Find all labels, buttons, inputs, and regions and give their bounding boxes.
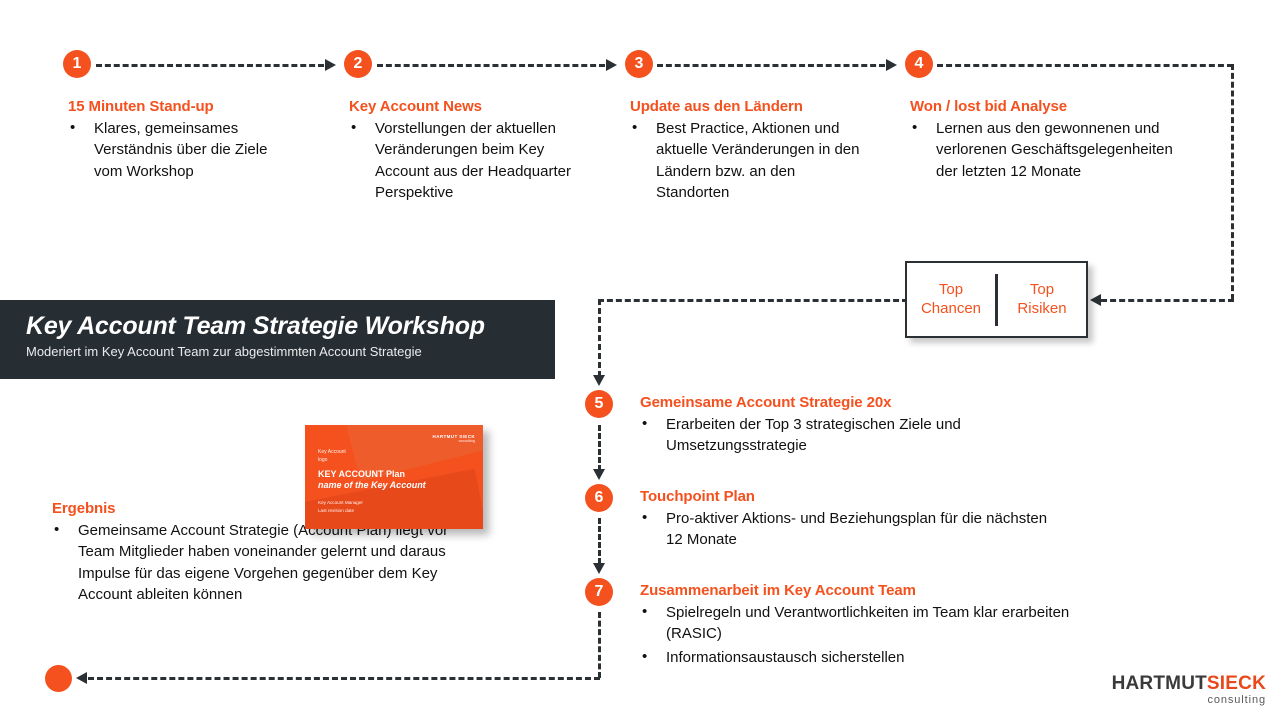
arrow-into-step-5 [593, 375, 605, 386]
step-block-1: 15 Minuten Stand-up Klares, gemeinsames … [68, 98, 298, 184]
step-bullets-3: Best Practice, Aktionen und aktuelle Ver… [630, 118, 870, 203]
bullet-item: Pro-aktiver Aktions- und Beziehungsplan … [640, 508, 1060, 551]
thumbnail-logo: HARTMUT SIECK consulting [433, 434, 475, 443]
thumbnail-logo-sub: consulting [433, 439, 475, 443]
connector-right-down [1231, 64, 1234, 300]
thumbnail-footer-line2: Last revision date [318, 507, 363, 515]
slide-canvas: 1 15 Minuten Stand-up Klares, gemeinsame… [0, 0, 1280, 720]
connector-1-to-2 [96, 64, 324, 67]
bullet-item: Informationsaustausch sicherstellen [640, 647, 1110, 668]
step-heading-3: Update aus den Ländern [630, 98, 870, 115]
thumbnail-footer: Key Account Manager Last revision date [318, 499, 363, 515]
step-block-3: Update aus den Ländern Best Practice, Ak… [630, 98, 870, 205]
arrow-into-chance-risk-box [1090, 294, 1101, 306]
step-bullets-1: Klares, gemeinsames Verständnis über die… [68, 118, 298, 182]
step-heading-7: Zusammenarbeit im Key Account Team [640, 582, 1110, 599]
bullet-item: Vorstellungen der aktuellen Veränderunge… [349, 118, 599, 203]
step-number-6[interactable]: 6 [585, 484, 613, 512]
connector-box-to-left [598, 299, 908, 302]
step-bullets-6: Pro-aktiver Aktions- und Beziehungsplan … [640, 508, 1060, 551]
end-dot [45, 665, 72, 692]
connector-right-to-box [1101, 299, 1234, 302]
connector-2-to-3 [377, 64, 605, 67]
step-bullets-2: Vorstellungen der aktuellen Veränderunge… [349, 118, 599, 203]
connector-to-end-dot [88, 677, 600, 680]
brand-logo: HARTMUTSIECK consulting [1112, 674, 1266, 706]
connector-5-to-6 [598, 425, 601, 471]
key-account-plan-thumbnail[interactable]: HARTMUT SIECK consulting Key Account log… [305, 425, 483, 529]
thumbnail-small-line2: logo [318, 457, 346, 465]
top-risiken-line1: Top [998, 281, 1086, 300]
top-chancen-cell: Top Chancen [907, 281, 995, 319]
step-heading-4: Won / lost bid Analyse [910, 98, 1195, 115]
brand-tagline: consulting [1112, 695, 1266, 706]
thumbnail-title-line2: name of the Key Account [318, 480, 426, 490]
top-risiken-cell: Top Risiken [998, 281, 1086, 319]
top-chancen-line2: Chancen [907, 300, 995, 319]
title-banner: Key Account Team Strategie Workshop Mode… [0, 300, 555, 379]
connector-7-down [598, 612, 601, 678]
step-bullets-4: Lernen aus den gewonnenen und verlorenen… [910, 118, 1195, 182]
step-heading-6: Touchpoint Plan [640, 488, 1060, 505]
arrow-2-to-3 [606, 59, 617, 71]
brand-name-dark: HARTMUT [1112, 673, 1207, 694]
arrow-into-end-dot [76, 672, 87, 684]
thumbnail-small-line1: Key Account [318, 449, 346, 457]
result-bullets: Gemeinsame Account Strategie (Account Pl… [52, 520, 472, 605]
bullet-item: Spielregeln und Verantwortlichkeiten im … [640, 602, 1110, 645]
connector-6-to-7 [598, 518, 601, 564]
connector-3-to-4 [657, 64, 885, 67]
step-number-2[interactable]: 2 [344, 50, 372, 78]
top-chancen-line1: Top [907, 281, 995, 300]
step-block-5: Gemeinsame Account Strategie 20x Erarbei… [640, 394, 1080, 459]
thumbnail-title-line1: KEY ACCOUNT Plan [318, 469, 405, 479]
arrow-into-step-6 [593, 469, 605, 480]
step-number-1[interactable]: 1 [63, 50, 91, 78]
chance-risk-box[interactable]: Top Chancen Top Risiken [905, 261, 1088, 338]
step-number-4[interactable]: 4 [905, 50, 933, 78]
step-block-6: Touchpoint Plan Pro-aktiver Aktions- und… [640, 488, 1060, 553]
bullet-item: Lernen aus den gewonnenen und verlorenen… [910, 118, 1195, 182]
step-bullets-5: Erarbeiten der Top 3 strategischen Ziele… [640, 414, 1080, 457]
top-risiken-line2: Risiken [998, 300, 1086, 319]
step-bullets-7: Spielregeln und Verantwortlichkeiten im … [640, 602, 1110, 668]
bullet-item: Klares, gemeinsames Verständnis über die… [68, 118, 298, 182]
step-block-2: Key Account News Vorstellungen der aktue… [349, 98, 599, 205]
bullet-item: Best Practice, Aktionen und aktuelle Ver… [630, 118, 870, 203]
step-number-5[interactable]: 5 [585, 390, 613, 418]
connector-4-to-right [937, 64, 1233, 67]
arrow-3-to-4 [886, 59, 897, 71]
brand-name-red: SIECK [1207, 673, 1266, 694]
step-heading-2: Key Account News [349, 98, 599, 115]
arrow-into-step-7 [593, 563, 605, 574]
step-heading-5: Gemeinsame Account Strategie 20x [640, 394, 1080, 411]
bullet-item: Gemeinsame Account Strategie (Account Pl… [52, 520, 472, 605]
connector-left-down-to-5 [598, 299, 601, 377]
arrow-1-to-2 [325, 59, 336, 71]
step-block-7: Zusammenarbeit im Key Account Team Spiel… [640, 582, 1110, 670]
brand-name: HARTMUTSIECK [1112, 674, 1266, 693]
step-block-4: Won / lost bid Analyse Lernen aus den ge… [910, 98, 1195, 184]
banner-title: Key Account Team Strategie Workshop [26, 312, 555, 341]
step-number-3[interactable]: 3 [625, 50, 653, 78]
bullet-item: Erarbeiten der Top 3 strategischen Ziele… [640, 414, 1080, 457]
banner-subtitle: Moderiert im Key Account Team zur abgest… [26, 344, 555, 360]
step-number-7[interactable]: 7 [585, 578, 613, 606]
thumbnail-logo-placeholder: Key Account logo [318, 449, 346, 464]
step-heading-1: 15 Minuten Stand-up [68, 98, 298, 115]
thumbnail-footer-line1: Key Account Manager [318, 499, 363, 507]
